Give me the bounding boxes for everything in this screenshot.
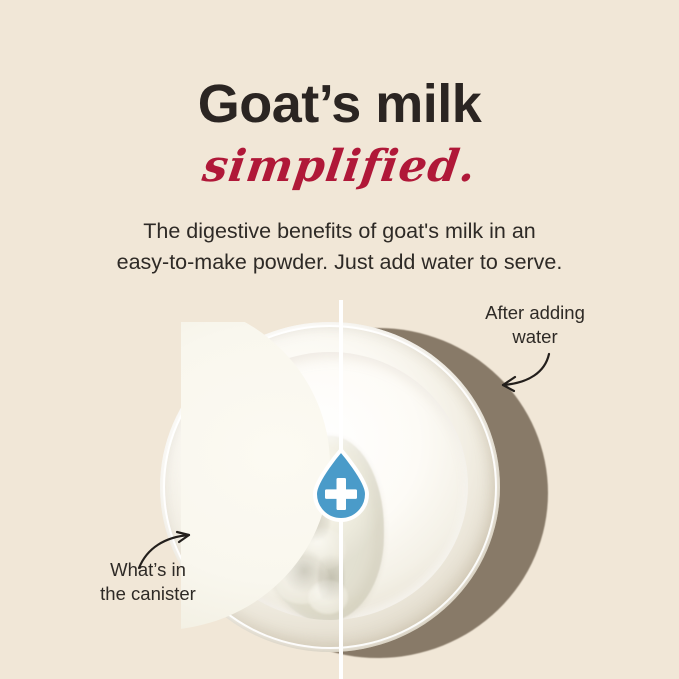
subtitle-line-2: easy-to-make powder. Just add water to s…: [50, 247, 629, 278]
water-drop-plus-icon: [309, 448, 373, 524]
callout-left-line-2: the canister: [64, 582, 232, 606]
subtitle-line-1: The digestive benefits of goat's milk in…: [50, 216, 629, 247]
page-title-script-accent: simplified.: [0, 143, 679, 191]
callout-right-line-2: water: [455, 325, 615, 349]
callout-after-adding-water: After adding water: [455, 301, 615, 349]
callout-right-line-1: After adding: [455, 301, 615, 325]
page-title: Goat’s milk: [0, 76, 679, 133]
product-infographic: Goat’s milk simplified. The digestive be…: [0, 0, 679, 679]
curved-arrow-down-left-icon: [487, 352, 557, 396]
curved-arrow-up-right-icon: [133, 528, 203, 572]
bowl-comparison-scene: [0, 300, 679, 679]
subtitle: The digestive benefits of goat's milk in…: [50, 216, 629, 277]
